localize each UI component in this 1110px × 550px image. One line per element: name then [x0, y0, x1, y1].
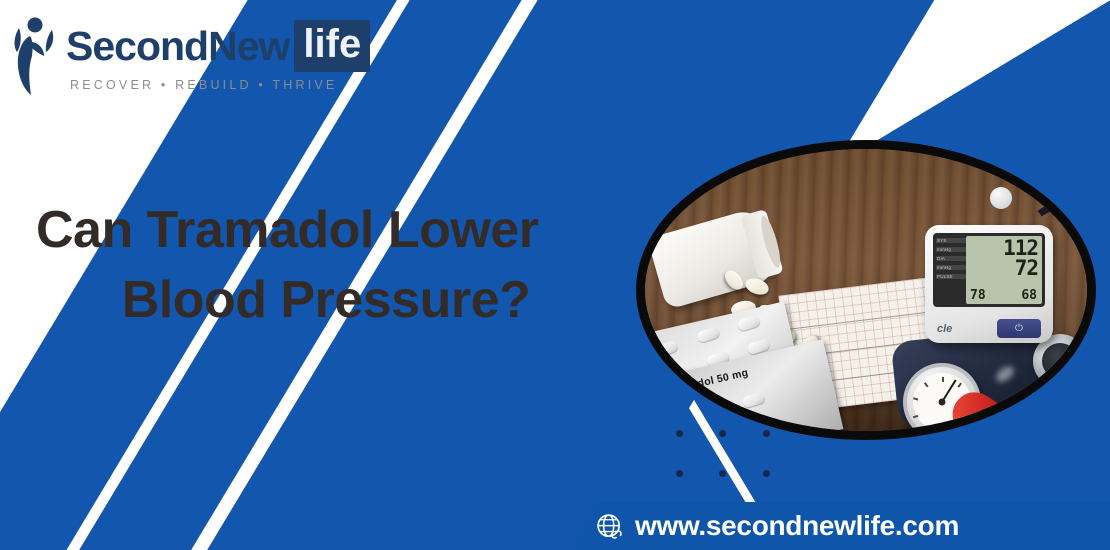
- logo-wordmark-row: SecondNew life: [66, 20, 370, 72]
- promo-banner: SecondNew life RECOVER • REBUILD • THRIV…: [0, 0, 1110, 550]
- page-title: Can Tramadol Lower Blood Pressure?: [36, 196, 656, 335]
- monitor-screen: SYS mmHg DIA mmHg PULSE 112 72 78 68: [933, 233, 1045, 307]
- hero-photo-oval: adol 50 mg: [636, 140, 1096, 440]
- blood-pressure-monitor: SYS mmHg DIA mmHg PULSE 112 72 78 68 cle: [925, 225, 1053, 343]
- grid-dot: [719, 430, 726, 437]
- website-url-text: www.secondnewlife.com: [635, 510, 959, 542]
- monitor-brand-label: cle: [937, 323, 952, 335]
- gauge-hub: [939, 399, 946, 406]
- logo-tagline: RECOVER • REBUILD • THRIVE: [70, 78, 370, 92]
- grid-dot: [676, 470, 683, 477]
- diastolic-reading: 72: [1015, 256, 1038, 280]
- brand-logo[interactable]: SecondNew life RECOVER • REBUILD • THRIV…: [8, 16, 370, 96]
- logo-boxed-word: life: [294, 20, 370, 72]
- label-dia-unit: mmHg: [936, 265, 966, 270]
- person-raising-arms-icon: [8, 16, 60, 96]
- monitor-screen-labels: SYS mmHg DIA mmHg PULSE: [933, 233, 966, 307]
- label-dia: DIA: [936, 256, 966, 261]
- globe-icon: [596, 513, 623, 540]
- headline-line-2: Blood Pressure?: [36, 266, 656, 336]
- label-sys-unit: mmHg: [936, 247, 966, 252]
- label-pulse: PULSE: [936, 274, 966, 279]
- grid-dot: [763, 470, 770, 477]
- power-glyph: ⏻: [1015, 323, 1023, 334]
- pulse-reading-left: 78: [970, 288, 986, 303]
- website-url-bar[interactable]: www.secondnewlife.com: [572, 502, 1110, 550]
- monitor-power-button[interactable]: ⏻: [997, 319, 1041, 338]
- grid-dot: [719, 470, 726, 477]
- label-sys: SYS: [936, 238, 966, 243]
- headline-line-1: Can Tramadol Lower: [36, 196, 656, 266]
- heart-highlight: [993, 363, 1016, 385]
- monitor-lcd: 112 72 78 68: [966, 236, 1042, 304]
- logo-text-block: SecondNew life RECOVER • REBUILD • THRIV…: [66, 20, 370, 92]
- grid-dot: [763, 430, 770, 437]
- pulse-reading-right: 68: [1021, 288, 1037, 303]
- dot-grid-decoration: [676, 430, 806, 510]
- stethoscope-earpiece: [990, 187, 1012, 209]
- logo-primary-word: SecondNew: [66, 26, 289, 67]
- grid-dot: [676, 430, 683, 437]
- hero-photo-content: adol 50 mg: [645, 149, 1087, 431]
